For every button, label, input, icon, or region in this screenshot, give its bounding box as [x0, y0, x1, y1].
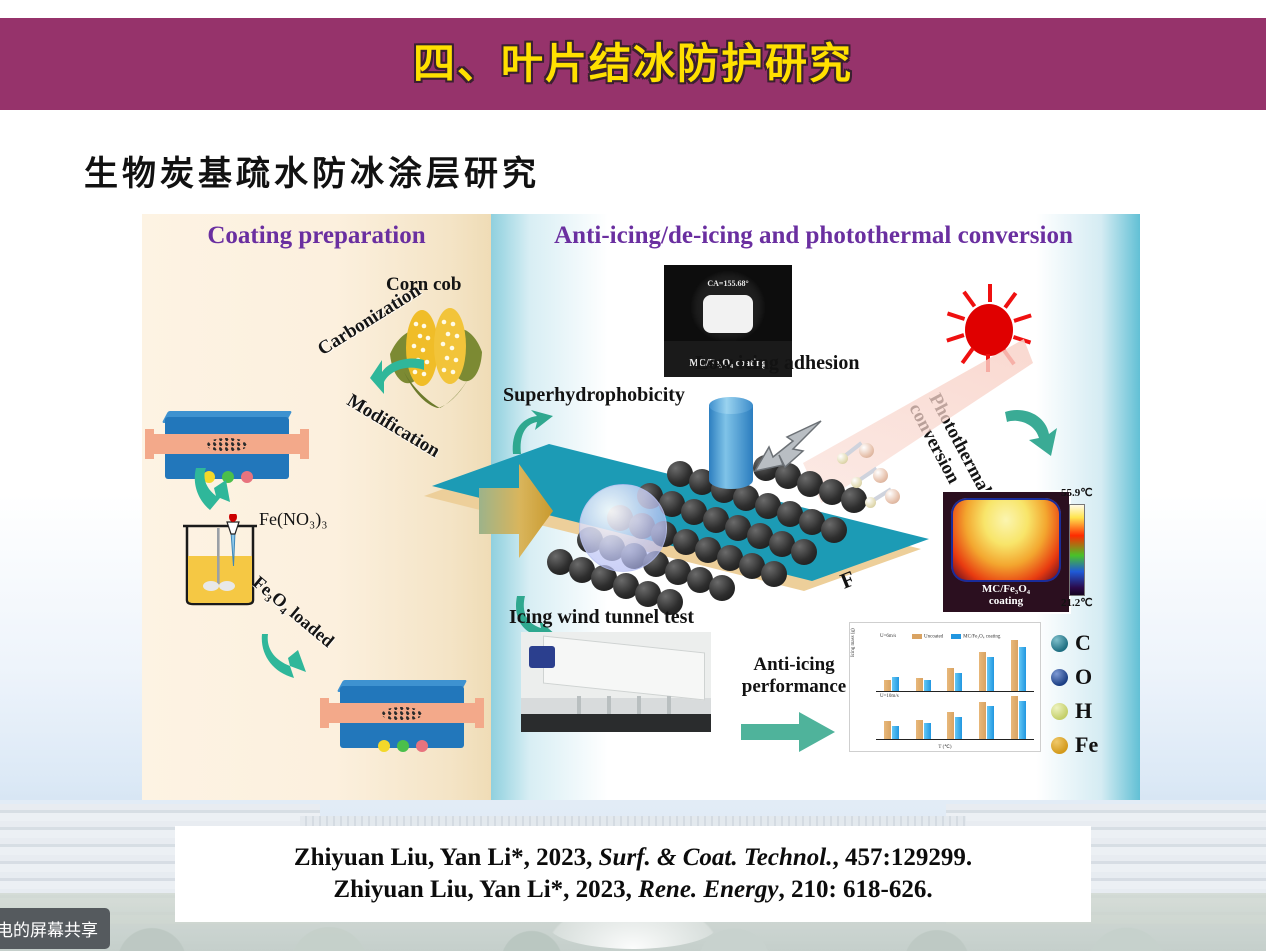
citation-line-2: Zhiyuan Liu, Yan Li*, 2023, Rene. Energy… [333, 876, 932, 904]
anti-icing-arrow-icon [741, 712, 835, 752]
element-symbol-c: C [1075, 630, 1091, 656]
force-arrow-icon [753, 419, 823, 479]
low-icing-adhesion-label: Low icing adhesion [695, 352, 859, 375]
citation-2-authors: Zhiyuan Liu, Yan Li*, 2023, [333, 876, 638, 903]
panel-coating-preparation: Coating preparation Corn cob [142, 214, 491, 800]
thermal-caption-line1: MC/Fe₃O₄ [982, 583, 1030, 595]
element-symbol-h: H [1075, 698, 1092, 724]
element-dot-c-icon [1051, 635, 1068, 652]
furnace-cap-right [475, 698, 484, 728]
element-dot-o-icon [1051, 669, 1068, 686]
anti-icing-performance-label: Anti-icing performance [734, 654, 854, 698]
thermal-image: MC/Fe₃O₄ coating [941, 490, 1071, 614]
panel-transition-arrow-icon [479, 456, 553, 566]
cylinder-top-cap [709, 397, 753, 414]
legend-row-O: O [1051, 660, 1131, 694]
chart-bars-10ms [876, 693, 1034, 739]
tube-furnace-modification [332, 676, 472, 758]
light-yellow-icon [378, 740, 390, 752]
thermal-max-label: 55.9℃ [1061, 486, 1093, 499]
thermal-heat-map [951, 498, 1061, 582]
arrow-to-furnace2-icon [260, 632, 318, 687]
furnace-cap-right [300, 429, 309, 459]
wind-tunnel-title: Icing wind tunnel test [509, 606, 694, 629]
furnace-indicator-lights [378, 740, 428, 752]
citation-1-journal: Surf. & Coat. Technol. [599, 844, 833, 871]
section-subtitle: 生物炭基疏水防冰涂层研究 [84, 146, 540, 195]
citation-1-locator: , 457:129299. [833, 844, 973, 871]
thermal-caption-line2: coating [989, 595, 1023, 607]
thermal-caption: MC/Fe₃O₄ coating [943, 583, 1069, 608]
screen-share-indicator[interactable]: 电的屏幕共享 [0, 908, 110, 949]
icing-mass-chart: Icing mass (g) Uncoated MC/Fe₃O₄ coating… [849, 622, 1041, 752]
graphical-abstract-figure: Coating preparation Corn cob [142, 214, 1140, 800]
water-droplet-3d [579, 484, 667, 572]
thermal-colorbar [1069, 504, 1085, 596]
citation-line-1: Zhiyuan Liu, Yan Li*, 2023, Surf. & Coat… [294, 844, 972, 872]
panel-anti-icing: Anti-icing/de-icing and photothermal con… [491, 214, 1140, 800]
legend-row-H: H [1051, 694, 1131, 728]
page-title: 四、叶片结冰防护研究 [0, 30, 1266, 91]
legend-row-Fe: Fe [1051, 728, 1131, 762]
fe-nitrate-label: Fe(NO₃)₃ [259, 509, 328, 530]
panel-left-title: Coating preparation [142, 222, 491, 250]
chart-xlabel: T (℃) [850, 744, 1040, 750]
light-red-icon [416, 740, 428, 752]
cylinder-body [709, 405, 753, 489]
element-dot-fe-icon [1051, 737, 1068, 754]
element-legend: C O H Fe [1051, 626, 1131, 762]
legend-row-C: C [1051, 626, 1131, 660]
contact-angle-value: CA=155.68° [664, 279, 792, 288]
arrow-photothermal-icon [1003, 406, 1059, 465]
citation-2-locator: , 210: 618-626. [778, 876, 932, 903]
light-green-icon [397, 740, 409, 752]
furnace-powder [382, 707, 422, 720]
element-symbol-fe: Fe [1075, 732, 1098, 758]
furnace-cap-left [320, 698, 329, 728]
element-dot-h-icon [1051, 703, 1068, 720]
tunnel-floor [521, 714, 711, 732]
tunnel-inlet [529, 646, 555, 668]
furnace-powder [207, 438, 247, 451]
arrow-carbonization-icon [370, 354, 426, 403]
chart-panel-6ms [876, 633, 1034, 692]
ice-cylinder [709, 397, 753, 493]
chart-ylabel: Icing mass (g) [851, 628, 856, 657]
chart-bars-6ms [876, 633, 1034, 691]
thermal-min-label: 21.2℃ [1061, 596, 1093, 609]
citation-1-authors: Zhiyuan Liu, Yan Li*, 2023, [294, 844, 599, 871]
panel-right-title: Anti-icing/de-icing and photothermal con… [497, 222, 1130, 250]
wind-tunnel-photo [521, 632, 711, 732]
thermal-image-frame: MC/Fe₃O₄ coating [943, 492, 1069, 612]
beaker-icon [177, 514, 263, 606]
furnace-cap-left [145, 429, 154, 459]
light-red-icon [241, 471, 253, 483]
element-symbol-o: O [1075, 664, 1092, 690]
citation-box: Zhiyuan Liu, Yan Li*, 2023, Surf. & Coat… [175, 826, 1091, 922]
coated-substrate-diagram: F [541, 399, 941, 624]
citation-2-journal: Rene. Energy [638, 876, 778, 903]
chart-panel-10ms [876, 693, 1034, 740]
arrow-down-to-beaker-icon [190, 466, 236, 519]
